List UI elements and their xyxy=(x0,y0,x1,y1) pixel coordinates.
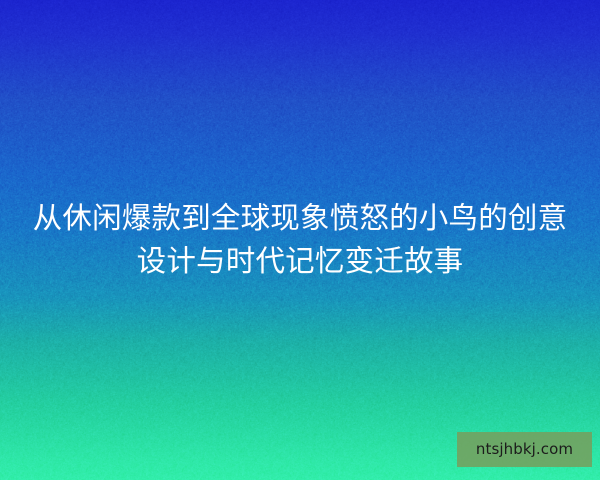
watermark-badge: ntsjhbkj.com xyxy=(457,432,592,467)
watermark-domain-label: ntsjhbkj.com xyxy=(476,442,573,457)
page-title: 从休闲爆款到全球现象愤怒的小鸟的创意设计与时代记忆变迁故事 xyxy=(22,197,578,283)
title-block: 从休闲爆款到全球现象愤怒的小鸟的创意设计与时代记忆变迁故事 xyxy=(0,0,600,480)
cover-image-canvas: 从休闲爆款到全球现象愤怒的小鸟的创意设计与时代记忆变迁故事 ntsjhbkj.c… xyxy=(0,0,600,480)
